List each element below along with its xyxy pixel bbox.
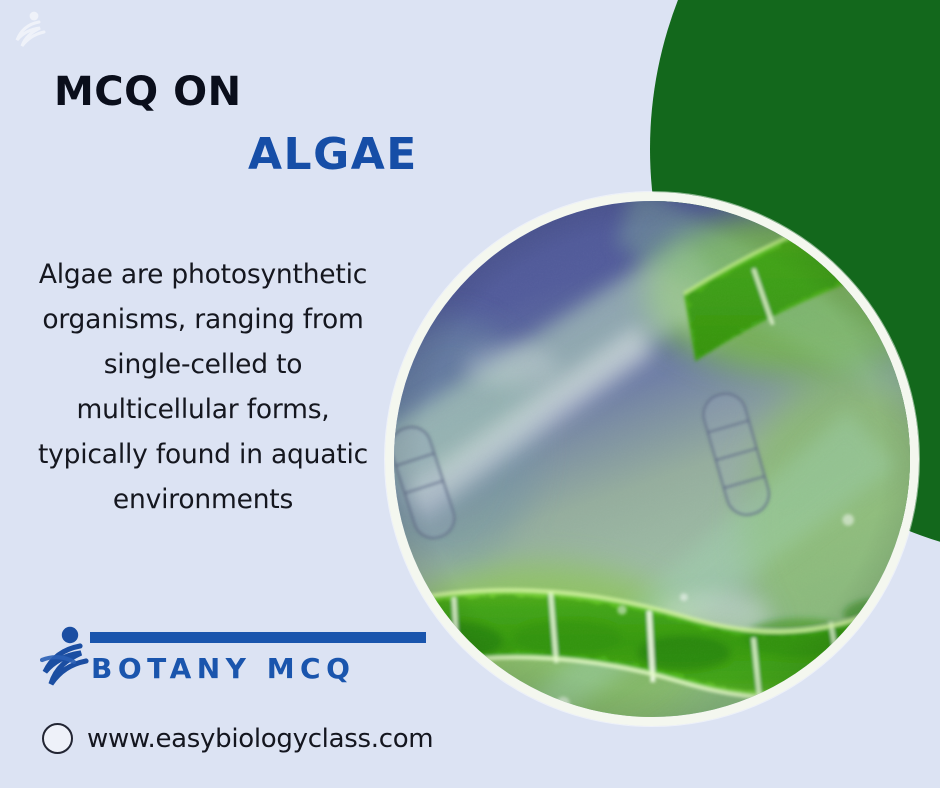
brand-lockup: BOTANY MCQ [40,624,400,696]
algae-photo-circle [385,192,919,726]
globe-circle-icon [42,723,73,754]
website-footer[interactable]: www.easybiologyclass.com [42,723,433,754]
description-text: Algae are photosynthetic organisms, rang… [28,252,378,522]
watermark-logo-icon [14,10,48,48]
brand-divider-rule [90,632,426,643]
brand-name: BOTANY MCQ [91,652,355,685]
page-title-line-1: MCQ ON [54,72,242,112]
page-title-line-2: ALGAE [248,133,418,177]
botany-mcq-logo-icon [40,626,92,690]
poster-canvas: MCQ ON ALGAE Algae are photosynthetic or… [0,0,940,788]
website-url[interactable]: www.easybiologyclass.com [87,724,433,754]
